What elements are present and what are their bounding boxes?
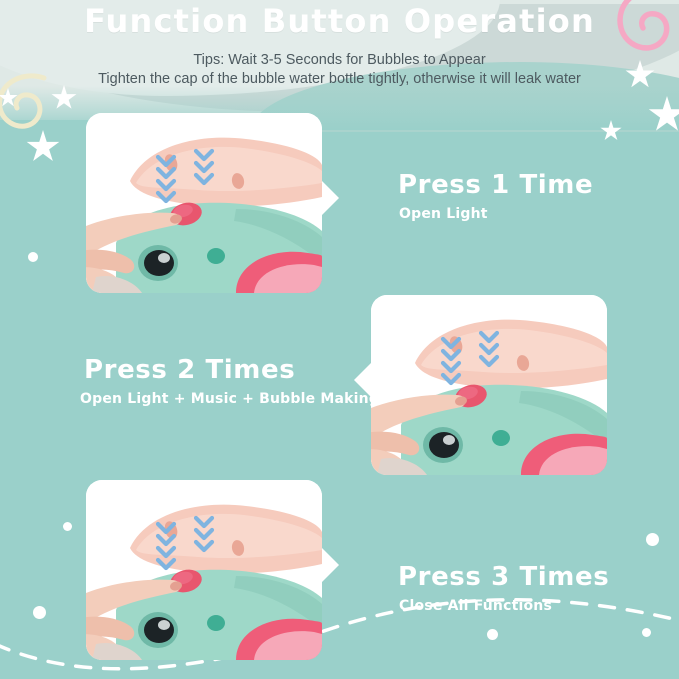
step-1-heading: Press 1 Time <box>398 170 593 200</box>
step-2-subtitle: Open Light + Music + Bubble Making <box>80 391 379 407</box>
step-2-photo-panel <box>371 295 607 475</box>
step-3-pointer-icon <box>322 548 339 582</box>
tips-line-2: Tighten the cap of the bubble water bott… <box>0 71 679 87</box>
step-2-heading: Press 2 Times <box>84 355 295 385</box>
step-1-subtitle: Open Light <box>399 206 488 222</box>
toy-photo-2 <box>371 295 607 475</box>
dot-decoration <box>646 533 659 546</box>
step-1-photo-panel <box>86 113 322 293</box>
dot-decoration <box>63 522 72 531</box>
toy-photo-3 <box>86 480 322 660</box>
step-3-photo-panel <box>86 480 322 660</box>
step-1-pointer-icon <box>322 181 339 215</box>
step-3-heading: Press 3 Times <box>398 562 609 592</box>
infographic-root: Function Button Operation Tips: Wait 3-5… <box>0 0 679 679</box>
toy-photo-1 <box>86 113 322 293</box>
page-title: Function Button Operation <box>0 2 679 40</box>
step-3-subtitle: Close All Functions <box>399 598 552 614</box>
tips-line-1: Tips: Wait 3-5 Seconds for Bubbles to Ap… <box>0 52 679 68</box>
dot-decoration <box>28 252 38 262</box>
